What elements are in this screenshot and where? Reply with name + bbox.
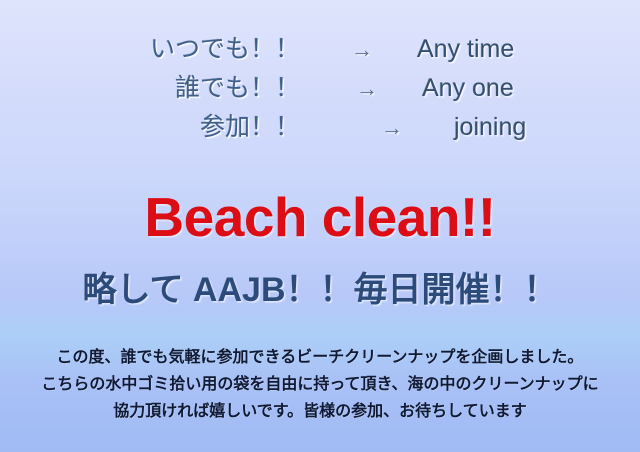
poster-slide: いつでも！！ → Any time 誰でも！！ → Any one 参加！！ →…: [0, 0, 640, 452]
english-term: Any time: [412, 37, 640, 62]
term-mapping-row: 誰でも！！ → Any one: [0, 69, 640, 108]
term-mapping-row: 参加！！ → joining: [0, 108, 640, 147]
right-arrow-icon: →: [312, 39, 412, 61]
page-subtitle: 略して AAJB！！毎日開催！！: [0, 272, 640, 309]
english-term: Any one: [417, 76, 640, 101]
japanese-term: いつでも！！: [0, 37, 312, 62]
right-arrow-icon: →: [317, 78, 417, 100]
body-paragraph: この度、誰でも気軽に参加できるビーチクリーンナップを企画しました。 こちらの水中…: [0, 344, 640, 425]
term-mapping-list: いつでも！！ → Any time 誰でも！！ → Any one 参加！！ →…: [0, 30, 640, 147]
english-term: joining: [442, 115, 640, 140]
page-title: Beach clean!!: [0, 189, 640, 247]
japanese-term: 誰でも！！: [0, 76, 317, 101]
term-mapping-row: いつでも！！ → Any time: [0, 30, 640, 69]
body-line: こちらの水中ゴミ拾い用の袋を自由に持って頂き、海の中のクリーンナップに: [0, 371, 640, 398]
japanese-term: 参加！！: [0, 115, 342, 140]
right-arrow-icon: →: [342, 117, 442, 139]
body-line: 協力頂ければ嬉しいです。皆様の参加、お待ちしています: [0, 398, 640, 425]
body-line: この度、誰でも気軽に参加できるビーチクリーンナップを企画しました。: [0, 344, 640, 371]
